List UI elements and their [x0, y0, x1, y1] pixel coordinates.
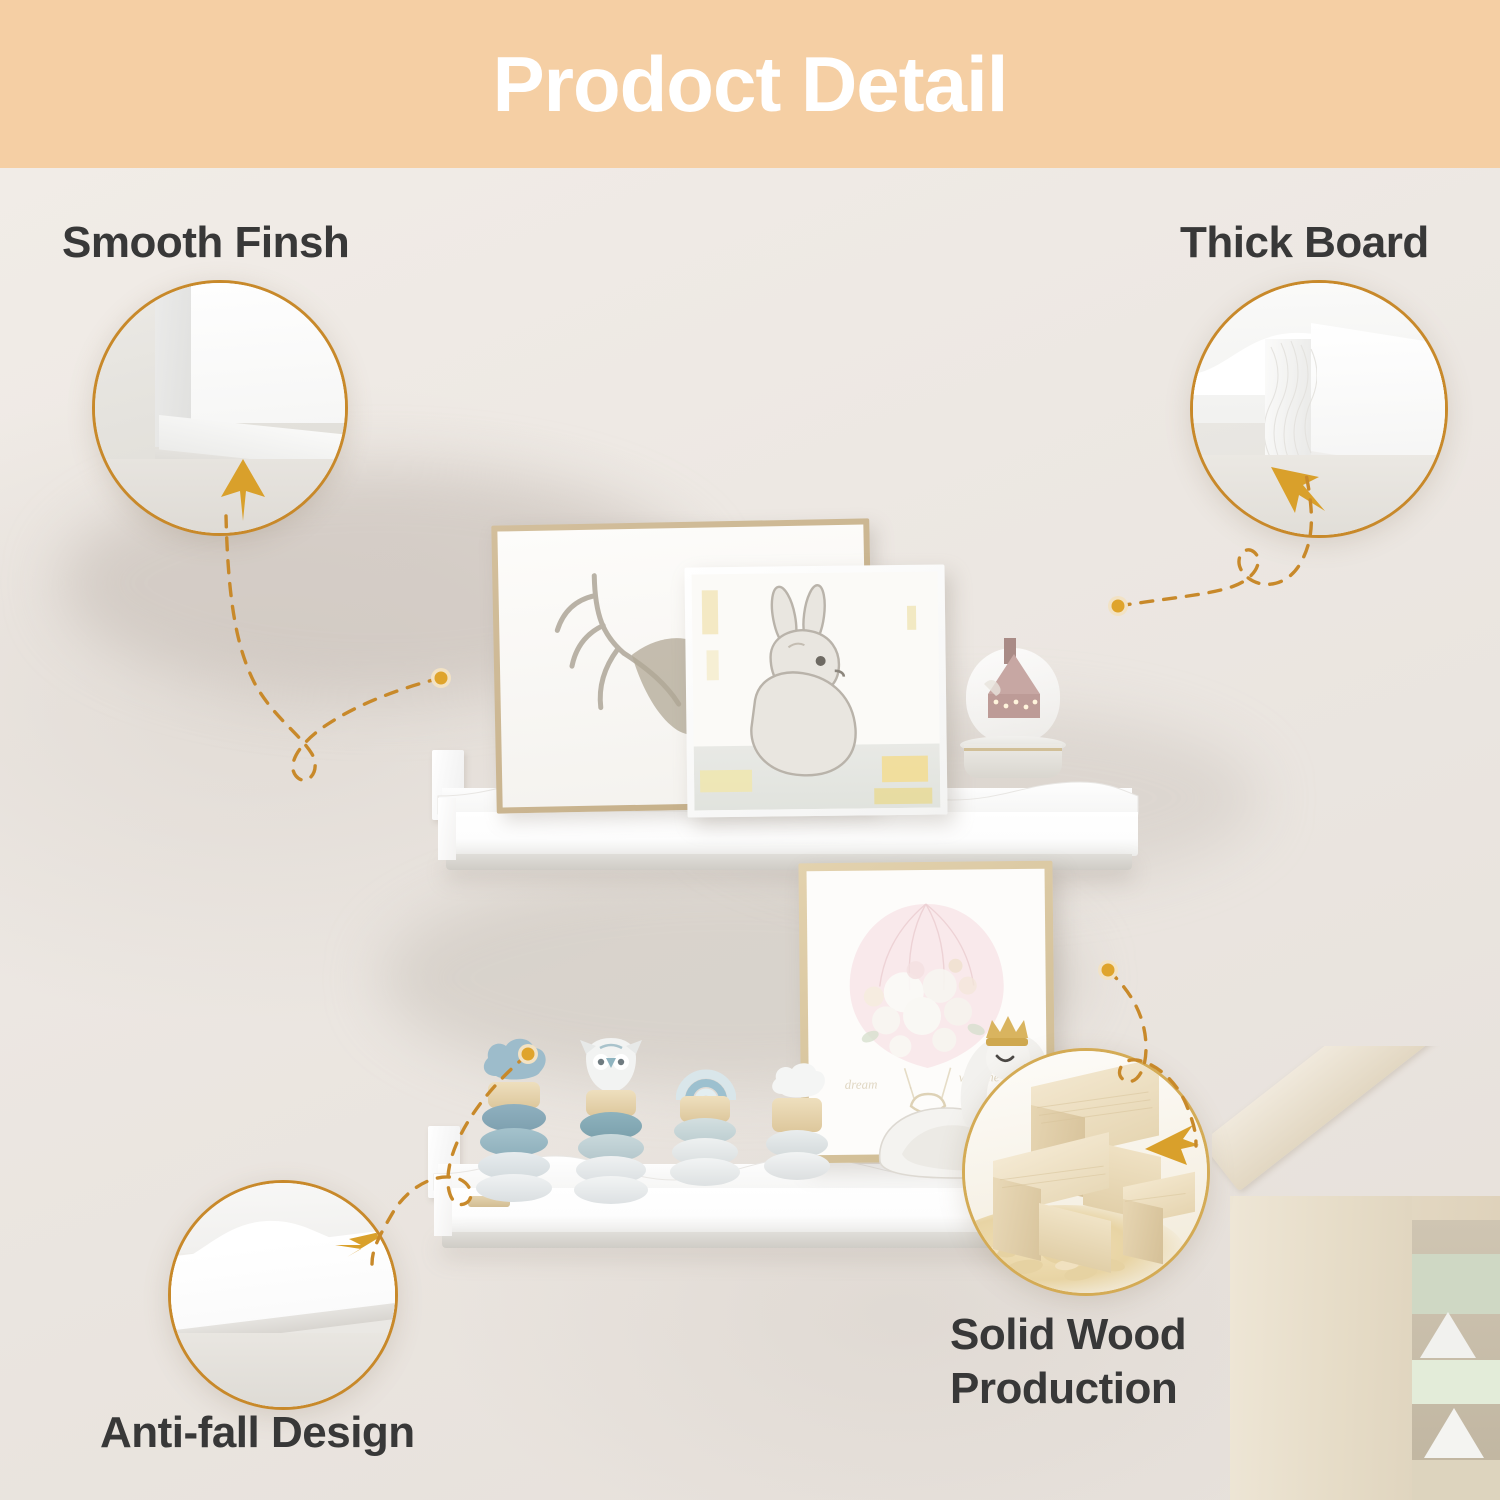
- rainbow-stacking-toy: [670, 1050, 742, 1192]
- cloud-small-stacking-toy: [764, 1060, 832, 1192]
- magnifier-arrow-icon: [1141, 1115, 1203, 1169]
- bookcase-stile: [1230, 1196, 1412, 1500]
- magnifier-photo-solid-wood: [965, 1051, 1207, 1293]
- magnifier-photo-anti-fall: [171, 1183, 395, 1407]
- house-snowglobe-decor: [954, 626, 1072, 798]
- product-photo-scene: dream · with me: [0, 168, 1500, 1500]
- magnifier-solid-wood: [962, 1048, 1210, 1296]
- toy-ring: [764, 1152, 830, 1180]
- magnifier-arrow-icon: [1261, 451, 1341, 531]
- shelf-left-edge: [438, 798, 456, 860]
- page-title: Prodoct Detail: [493, 39, 1008, 130]
- shelf-left-edge: [434, 1174, 452, 1236]
- callout-label-anti-fall-design: Anti-fall Design: [100, 1406, 415, 1460]
- cloud-stacking-toy: [476, 1034, 552, 1194]
- rabbit-art-frame: [684, 564, 947, 817]
- house-shaped-bookcase: [1212, 1024, 1500, 1500]
- lower-shelf: dream · with me: [428, 938, 1128, 1068]
- owl-stacking-toy: [574, 1038, 648, 1196]
- header-band: Prodoct Detail: [0, 0, 1500, 168]
- bookcase-opening: [1408, 1220, 1500, 1500]
- toy-ring: [670, 1158, 740, 1186]
- magnifier-arrow-icon: [213, 455, 273, 527]
- magnifier-arrow-icon: [323, 1219, 398, 1271]
- toy-ring: [476, 1174, 552, 1202]
- magnifier-anti-fall-design: [168, 1180, 398, 1410]
- callout-label-solid-wood-production: Solid Wood Production: [950, 1308, 1186, 1415]
- magnifier-thick-board: [1190, 280, 1448, 538]
- callout-label-thick-board: Thick Board: [1180, 216, 1429, 270]
- toy-ring: [574, 1176, 648, 1204]
- shelf-front-face: [438, 812, 1138, 856]
- magnifier-smooth-finish: [92, 280, 348, 536]
- upper-shelf: [432, 588, 1140, 718]
- callout-label-smooth-finish: Smooth Finsh: [62, 216, 349, 270]
- rabbit-art-canvas: [692, 572, 941, 811]
